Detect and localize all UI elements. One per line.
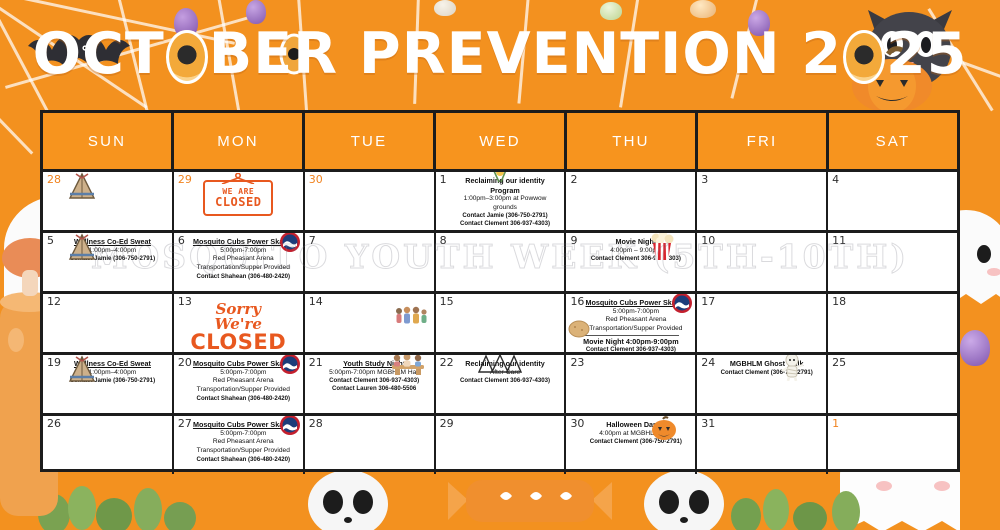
day-number: 29	[178, 174, 192, 185]
day-number: 23	[570, 357, 584, 368]
calendar-week-row: 19Wellness Co-Ed Sweat1:00pm–4:00pmConta…	[43, 352, 957, 413]
calendar-day-cell[interactable]: 8	[436, 233, 567, 291]
weekday-header-thu: THU	[567, 113, 698, 169]
event-detail-line: Transportation/Supper Provided	[188, 264, 299, 273]
event-detail-line: 1:00pm–3:00pm at Powwow	[450, 195, 561, 204]
event-detail-line: Red Pheasant Arena	[188, 377, 299, 386]
event-contact: Contact Lauren 306-480-5506	[319, 385, 430, 393]
weekday-header-tue: TUE	[305, 113, 436, 169]
event-detail-line: After-Care	[450, 369, 561, 378]
calendar-day-cell[interactable]: 6Mosquito Cubs Power Skates5:00pm-7:00pm…	[174, 233, 305, 291]
calendar-event[interactable]: Mosquito Cubs Power Skates5:00pm-7:00pmR…	[580, 298, 691, 334]
skull-icon	[636, 470, 732, 530]
calendar-grid: SUNMONTUEWEDTHUFRISAT 2829WE ARECLOSED30…	[40, 110, 960, 472]
calendar-day-cell[interactable]: 30	[305, 172, 436, 230]
event-title: Mosquito Cubs Power Skates	[188, 359, 299, 369]
day-number: 30	[309, 174, 323, 185]
calendar-event[interactable]: Mosquito Cubs Power Skates5:00pm-7:00pmR…	[188, 420, 299, 464]
day-number: 30	[570, 418, 584, 429]
event-title: Mosquito Cubs Power Skates	[188, 420, 299, 430]
title-prefix: OCT	[33, 21, 165, 87]
day-number: 6	[178, 235, 185, 246]
event-title: Reclaiming our identity Program	[450, 176, 561, 195]
calendar-event[interactable]: Youth Study Night5:00pm-7:00pm MGBHLM Ha…	[319, 359, 430, 393]
event-detail-line: Red Pheasant Arena	[188, 438, 299, 447]
event-title: Mosquito Cubs Power Skates	[188, 237, 299, 247]
day-number: 1	[832, 418, 839, 429]
candy-icon	[430, 472, 630, 530]
calendar-event[interactable]: Reclaiming our identityAfter-CareContact…	[450, 359, 561, 385]
day-number: 11	[832, 235, 846, 246]
calendar-day-cell[interactable]: 2	[566, 172, 697, 230]
eyeball-icon	[843, 30, 885, 84]
day-number: 1	[440, 174, 447, 185]
calendar-day-cell[interactable]: 28	[43, 172, 174, 230]
weekday-header-sat: SAT	[829, 113, 957, 169]
event-contact: Contact Clement 306-937-4303)	[570, 346, 691, 352]
day-number: 9	[570, 235, 577, 246]
day-number: 15	[440, 296, 454, 307]
calendar-day-cell[interactable]: 7	[305, 233, 436, 291]
day-number: 27	[178, 418, 192, 429]
calendar-day-cell[interactable]: 30Halloween Dance4:00pm at MGBHLM HallCo…	[566, 416, 697, 474]
page-title: OCTBER PREVENTION 225	[0, 8, 1000, 102]
event-contact: Contact Shahean (306-480-2420)	[188, 456, 299, 464]
calendar-event[interactable]: Mosquito Cubs Power Skates5:00pm-7:00pmR…	[188, 359, 299, 403]
weekday-header-wed: WED	[436, 113, 567, 169]
day-number: 2	[570, 174, 577, 185]
calendar-day-cell[interactable]: 5Wellness Co-Ed Sweat1:00pm–4:00pmContac…	[43, 233, 174, 291]
calendar-event[interactable]: MGBHLM Ghost WalkContact Clement (306-75…	[711, 359, 822, 377]
calendar-day-cell[interactable]: 1Reclaiming our identity Program1:00pm–3…	[436, 172, 567, 230]
calendar-event[interactable]: Wellness Co-Ed Sweat1:00pm–4:00pmContact…	[57, 359, 168, 385]
day-number: 25	[832, 357, 846, 368]
sorry-were-closed-graphic: Sorry We'reCLOSED	[190, 302, 286, 352]
event-contact: Contact Shahean (306-480-2420)	[188, 395, 299, 403]
calendar-event[interactable]: Mosquito Cubs Power Skates5:00pm-7:00pmR…	[188, 237, 299, 281]
calendar-day-cell[interactable]: 19Wellness Co-Ed Sweat1:00pm–4:00pmConta…	[43, 355, 174, 413]
calendar-day-cell[interactable]: 14	[305, 294, 436, 352]
sign-hanger-icon	[218, 173, 258, 184]
calendar-day-cell[interactable]: 17	[697, 294, 828, 352]
event-detail-line: 4:00pm at MGBHLM Hall	[580, 430, 691, 439]
skull-icon	[300, 470, 396, 530]
event-detail-line: 5:00pm-7:00pm	[188, 430, 299, 439]
calendar-day-cell[interactable]: 29WE ARECLOSED	[174, 172, 305, 230]
day-number: 12	[47, 296, 61, 307]
we-are-closed-sign: WE ARECLOSED	[203, 180, 273, 216]
calendar-day-cell[interactable]: 16Mosquito Cubs Power Skates5:00pm-7:00p…	[566, 294, 697, 352]
event-contact: Contact Clement 306-937-4303)	[580, 255, 691, 263]
calendar-day-cell[interactable]: 31	[697, 416, 828, 474]
day-number: 14	[309, 296, 323, 307]
calendar-day-cell[interactable]: 1	[828, 416, 957, 474]
calendar-week-row: 1213Sorry We'reCLOSED141516Mosquito Cubs…	[43, 291, 957, 352]
eyeball-icon	[166, 30, 208, 84]
calendar-day-cell[interactable]: 12	[43, 294, 174, 352]
event-title: Reclaiming our identity	[450, 359, 561, 369]
event-title: Halloween Dance	[580, 420, 691, 430]
calendar-day-cell[interactable]: 22Reclaiming our identityAfter-CareConta…	[436, 355, 567, 413]
day-number: 7	[309, 235, 316, 246]
calendar-day-cell[interactable]: 13Sorry We'reCLOSED	[174, 294, 305, 352]
event-contact: Contact Shahean (306-480-2420)	[188, 273, 299, 281]
calendar-event[interactable]: Halloween Dance4:00pm at MGBHLM HallCont…	[580, 420, 691, 446]
calendar-day-cell[interactable]: 9Movie Night4:00pm – 9:00pmContact Cleme…	[566, 233, 697, 291]
event-contact: Contact Jamie (306-750-2791)	[57, 377, 168, 385]
event-contact: Contact Clement 306-937-4303)	[319, 377, 430, 385]
family-icon	[394, 306, 428, 324]
day-number: 10	[701, 235, 715, 246]
calendar-day-cell[interactable]: 18	[828, 294, 957, 352]
calendar-week-row: 2627Mosquito Cubs Power Skates5:00pm-7:0…	[43, 413, 957, 474]
calendar-day-cell[interactable]: 26	[43, 416, 174, 474]
event-contact: Contact Jamie (306-750-2791)	[57, 255, 168, 263]
day-number: 26	[47, 418, 61, 429]
calendar-weeks: 2829WE ARECLOSED301Reclaiming our identi…	[43, 169, 957, 474]
calendar-day-cell[interactable]: 28	[305, 416, 436, 474]
event-detail-line: Transportation/Supper Provided	[188, 386, 299, 395]
day-number: 24	[701, 357, 715, 368]
leaves-icon	[726, 470, 876, 530]
calendar-day-cell[interactable]: 11	[828, 233, 957, 291]
day-number: 28	[47, 174, 61, 185]
event-detail-line: 5:00pm-7:00pm	[580, 308, 691, 317]
day-number: 19	[47, 357, 61, 368]
event-contact: Contact Clement (306-750-2791)	[711, 369, 822, 377]
calendar-event[interactable]: Reclaiming our identity Program1:00pm–3:…	[450, 176, 561, 228]
day-number: 3	[701, 174, 708, 185]
day-number: 29	[440, 418, 454, 429]
potion-drop	[960, 330, 990, 366]
weekday-header-sun: SUN	[43, 113, 174, 169]
page-title-text: OCTBER PREVENTION 225	[33, 26, 968, 84]
calendar-day-cell[interactable]: 29	[436, 416, 567, 474]
event-detail-line: 5:00pm-7:00pm MGBHLM Hall	[319, 369, 430, 378]
day-number: 16	[570, 296, 584, 307]
day-number: 22	[440, 357, 454, 368]
event-title: Movie Night 4:00pm-9:00pm	[570, 337, 691, 347]
calendar-day-cell[interactable]: 21Youth Study Night5:00pm-7:00pm MGBHLM …	[305, 355, 436, 413]
day-number: 8	[440, 235, 447, 246]
event-contact: Contact Jamie (306-750-2791)	[450, 212, 561, 220]
spiderweb-line	[0, 118, 33, 155]
calendar-day-cell[interactable]: 20Mosquito Cubs Power Skates5:00pm-7:00p…	[174, 355, 305, 413]
day-number: 4	[832, 174, 839, 185]
event-title: Youth Study Night	[319, 359, 430, 369]
title-suffix: 25	[886, 21, 967, 87]
calendar-day-cell[interactable]: 24MGBHLM Ghost WalkContact Clement (306-…	[697, 355, 828, 413]
event-contact: Contact Clement (306-750-2791)	[580, 438, 691, 446]
calendar-event[interactable]: Movie Night4:00pm – 9:00pmContact Clemen…	[580, 237, 691, 263]
event-detail-line: Red Pheasant Arena	[188, 255, 299, 264]
day-number: 21	[309, 357, 323, 368]
event-detail-line: 5:00pm-7:00pm	[188, 247, 299, 256]
teepee-icon	[67, 172, 97, 200]
sorry-line-2: CLOSED	[190, 332, 286, 352]
event-title: Wellness Co-Ed Sweat	[57, 359, 168, 369]
day-number: 31	[701, 418, 715, 429]
calendar-event[interactable]: Movie Night 4:00pm-9:00pmContact Clement…	[570, 337, 691, 352]
calendar-day-cell[interactable]: 3	[697, 172, 828, 230]
event-contact: Contact Clement 306-937-4303)	[450, 220, 561, 228]
day-number: 28	[309, 418, 323, 429]
event-title: Mosquito Cubs Power Skates	[580, 298, 691, 308]
calendar-week-row: 5Wellness Co-Ed Sweat1:00pm–4:00pmContac…	[43, 230, 957, 291]
event-detail-line: 4:00pm – 9:00pm	[580, 247, 691, 256]
calendar-day-cell[interactable]: 27Mosquito Cubs Power Skates5:00pm-7:00p…	[174, 416, 305, 474]
event-title: Wellness Co-Ed Sweat	[57, 237, 168, 247]
leaves-icon	[30, 470, 210, 530]
calendar-day-cell[interactable]: 15	[436, 294, 567, 352]
event-separator	[582, 335, 679, 336]
calendar-day-cell[interactable]: 23	[566, 355, 697, 413]
calendar-event[interactable]: Wellness Co-Ed Sweat1:00pm–4:00pmContact…	[57, 237, 168, 263]
title-mid: BER PREVENTION 2	[209, 21, 842, 87]
day-number: 18	[832, 296, 846, 307]
event-contact: Contact Clement 306-937-4303)	[450, 377, 561, 385]
day-number: 20	[178, 357, 192, 368]
event-detail-line: 1:00pm–4:00pm	[57, 247, 168, 256]
event-detail-line: Red Pheasant Arena	[580, 316, 691, 325]
weekday-header-fri: FRI	[698, 113, 829, 169]
event-detail-line: grounds	[450, 204, 561, 213]
event-title: Movie Night	[580, 237, 691, 247]
event-detail-line: 1:00pm–4:00pm	[57, 369, 168, 378]
sorry-line-1: Sorry We're	[190, 302, 286, 332]
calendar-day-cell[interactable]: 4	[828, 172, 957, 230]
weekday-header-row: SUNMONTUEWEDTHUFRISAT	[43, 113, 957, 169]
event-detail-line: Transportation/Supper Provided	[580, 325, 691, 334]
event-title: MGBHLM Ghost Walk	[711, 359, 822, 369]
sign-line-2: CLOSED	[215, 196, 261, 209]
day-number: 17	[701, 296, 715, 307]
calendar-day-cell[interactable]: 10	[697, 233, 828, 291]
weekday-header-mon: MON	[174, 113, 305, 169]
event-detail-line: 5:00pm-7:00pm	[188, 369, 299, 378]
calendar-week-row: 2829WE ARECLOSED301Reclaiming our identi…	[43, 169, 957, 230]
day-number: 5	[47, 235, 54, 246]
event-detail-line: Transportation/Supper Provided	[188, 447, 299, 456]
calendar-day-cell[interactable]: 25	[828, 355, 957, 413]
